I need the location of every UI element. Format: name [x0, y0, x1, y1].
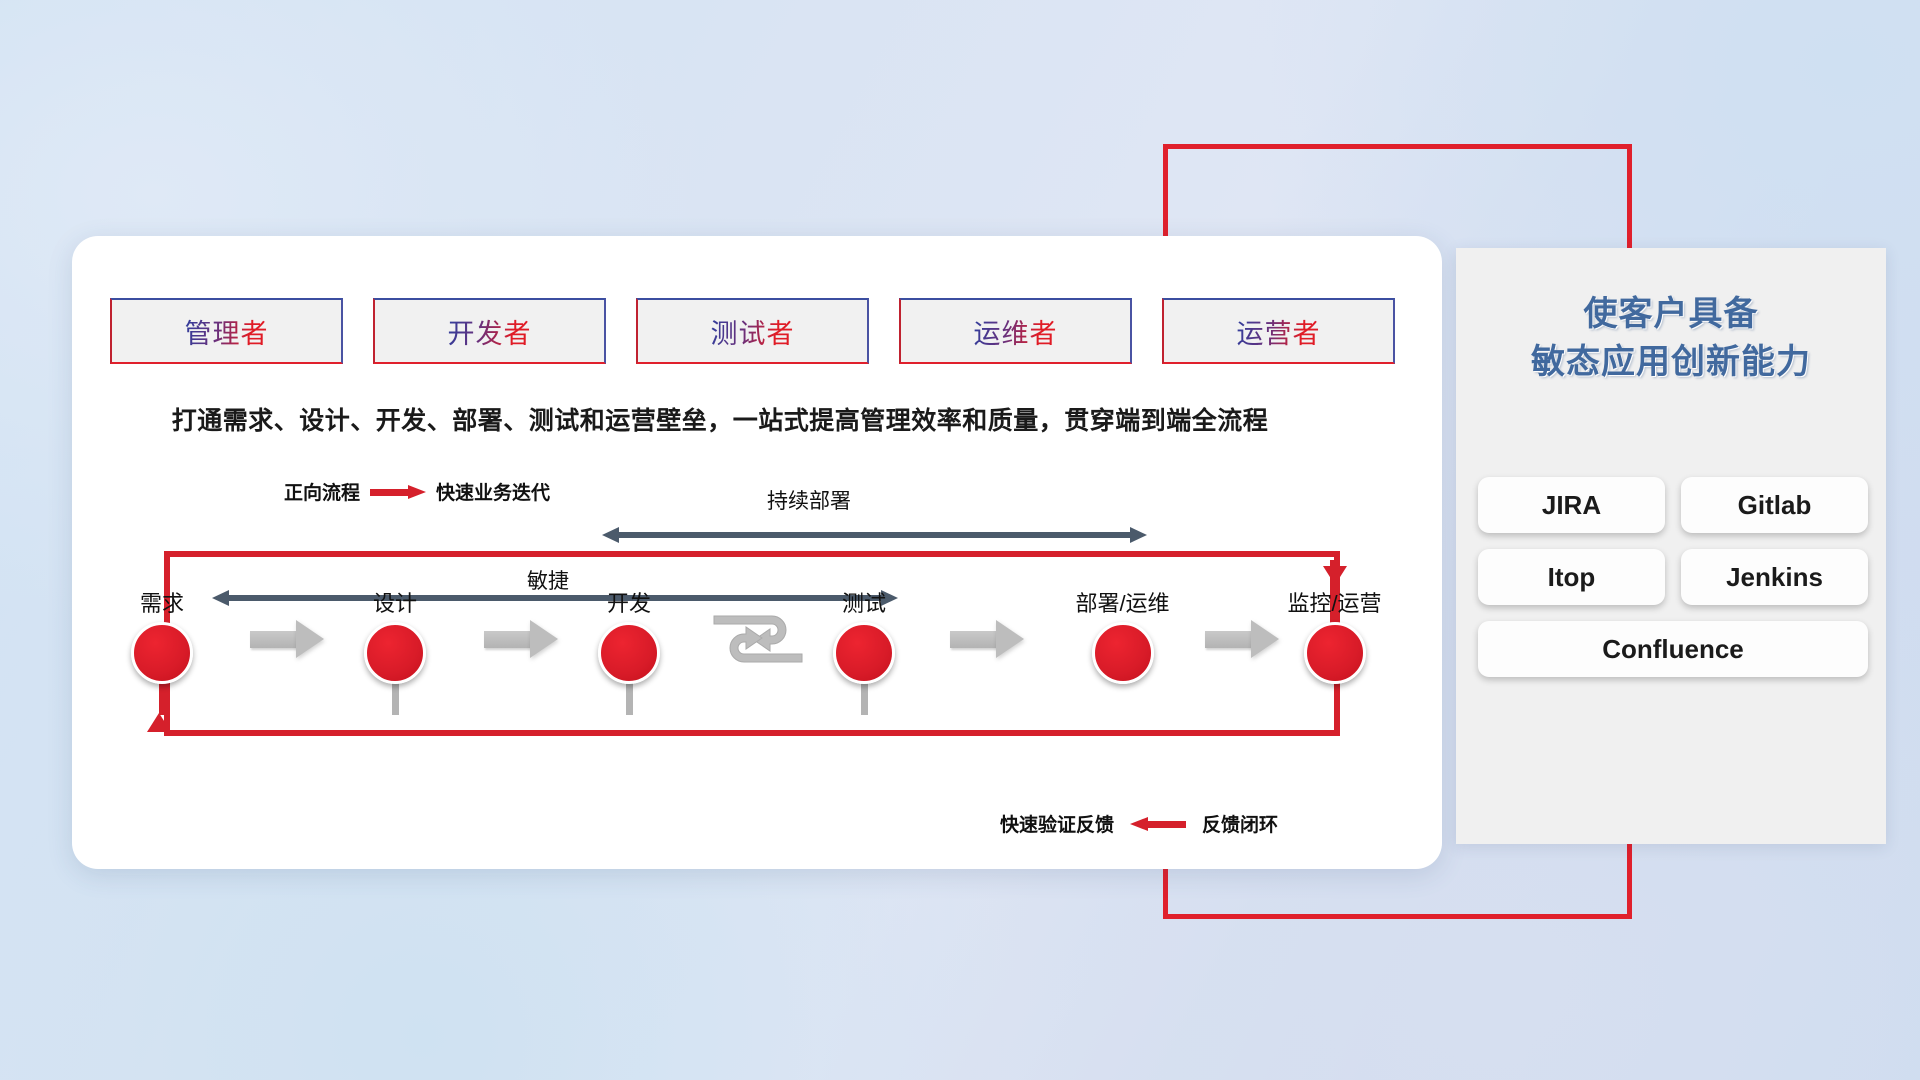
node-dot-icon	[833, 622, 895, 684]
panel-title-line2: 敏态应用创新能力	[1456, 338, 1886, 386]
node-label: 监控/运营	[1247, 586, 1422, 618]
tool-badge-confluence[interactable]: Confluence	[1478, 621, 1868, 677]
role-label: 运维者	[974, 312, 1058, 351]
role-label: 运营者	[1237, 312, 1321, 351]
panel-title-line1: 使客户具备	[1584, 295, 1759, 333]
node-label: 测试	[799, 586, 929, 618]
loop-back-arrow-icon	[710, 608, 806, 670]
tool-badge-jenkins[interactable]: Jenkins	[1681, 549, 1868, 605]
tool-badge-gitlab[interactable]: Gitlab	[1681, 477, 1868, 533]
tool-badge-itop[interactable]: Itop	[1478, 549, 1665, 605]
role-box-ops[interactable]: 运维者	[899, 298, 1132, 364]
role-box-tester[interactable]: 测试者	[636, 298, 869, 364]
node-label: 设计	[330, 586, 460, 618]
node-dot-icon	[131, 622, 193, 684]
fast-verification-label: 快速验证反馈	[1000, 810, 1114, 837]
arrow-right-grey-icon	[950, 620, 1024, 658]
node-dot-icon	[1092, 622, 1154, 684]
pipeline-node-monitor-operate[interactable]: 监控/运营	[1247, 586, 1422, 684]
pipeline-node-deploy-ops[interactable]: 部署/运维	[1035, 586, 1210, 684]
continuous-deployment-double-arrow-icon	[602, 527, 1147, 543]
node-label: 开发	[564, 586, 694, 618]
pipeline-node-design[interactable]: 设计	[330, 586, 460, 684]
node-dot-icon	[364, 622, 426, 684]
arrow-right-red-icon	[370, 485, 426, 499]
feedback-loop-label: 反馈闭环	[1202, 810, 1278, 837]
role-label: 管理者	[185, 312, 269, 351]
fast-iteration-label: 快速业务迭代	[436, 478, 550, 505]
description-text: 打通需求、设计、开发、部署、测试和运营壁垒，一站式提高管理效率和质量，贯穿端到端…	[0, 401, 1440, 437]
role-label: 开发者	[448, 312, 532, 351]
role-box-manager[interactable]: 管理者	[110, 298, 343, 364]
arrow-right-grey-icon	[250, 620, 324, 658]
role-box-operator[interactable]: 运营者	[1162, 298, 1395, 364]
pipeline-node-requirement[interactable]: 需求	[97, 586, 227, 684]
role-box-row: 管理者 开发者 测试者 运维者 运营者	[110, 298, 1395, 364]
continuous-deployment-label: 持续部署	[767, 485, 851, 515]
pipeline-node-develop[interactable]: 开发	[564, 586, 694, 684]
node-label: 需求	[97, 586, 227, 618]
node-label: 部署/运维	[1035, 586, 1210, 618]
arrow-right-grey-icon	[484, 620, 558, 658]
devops-pipeline: 需求 设计 开发 测试	[0, 600, 1440, 760]
feedback-legend: 快速验证反馈 反馈闭环	[1000, 810, 1278, 837]
node-dot-icon	[1304, 622, 1366, 684]
role-box-developer[interactable]: 开发者	[373, 298, 606, 364]
forward-flow-label: 正向流程	[284, 478, 360, 505]
node-dot-icon	[598, 622, 660, 684]
pipeline-node-test[interactable]: 测试	[799, 586, 929, 684]
tool-badge-list: JIRA Gitlab Itop Jenkins Confluence	[1478, 477, 1868, 677]
panel-title: 使客户具备 敏态应用创新能力	[1456, 290, 1886, 387]
slide-canvas: 管理者 开发者 测试者 运维者 运营者 打通需求、设计、开发、部署、测试和运营壁…	[0, 0, 1920, 1080]
forward-flow-legend: 正向流程 快速业务迭代	[284, 478, 550, 505]
tool-badge-jira[interactable]: JIRA	[1478, 477, 1665, 533]
role-label: 测试者	[711, 312, 795, 351]
arrow-left-red-icon	[1130, 817, 1186, 831]
